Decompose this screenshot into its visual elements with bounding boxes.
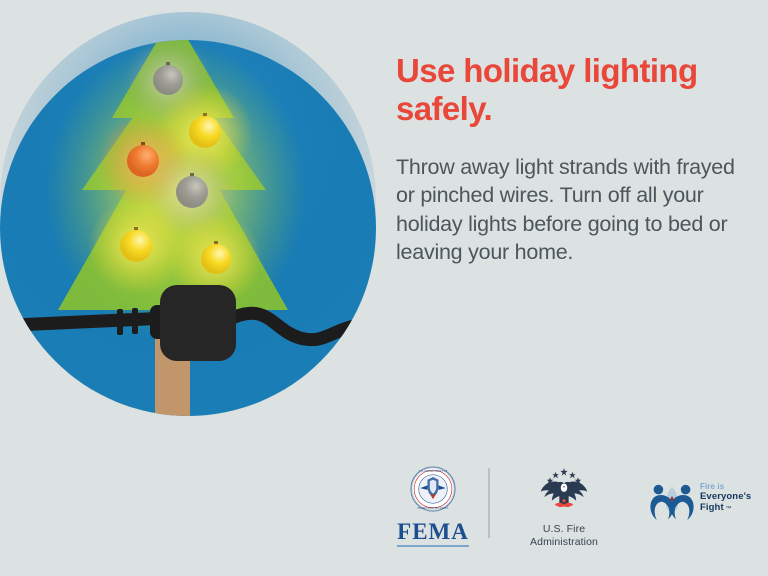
fief-wordmark: Fire is Everyone's Fight ™: [700, 483, 751, 513]
logo-divider: [488, 468, 490, 538]
fire-is-everyones-fight-logo: Fire is Everyone's Fight ™: [648, 480, 760, 527]
fief-trademark: ™: [724, 506, 732, 512]
usfa-line-2: Administration: [504, 536, 624, 549]
headline-line-2: safely.: [396, 90, 492, 127]
poster-canvas: Use holiday lighting safely. Throw away …: [0, 0, 768, 576]
usfa-logo: U.S. Fire Administration: [504, 466, 624, 550]
fief-line-3: Fight: [700, 502, 724, 513]
fema-wordmark: FEMA: [397, 517, 469, 547]
usfa-wordmark: U.S. Fire Administration: [504, 521, 624, 550]
cord-ridge-2: [132, 308, 138, 334]
svg-text:HOMELAND SECURITY: HOMELAND SECURITY: [418, 506, 449, 510]
body-copy: Throw away light strands with frayed or …: [396, 129, 736, 267]
fire-is-everyones-fight-figures-icon: [648, 480, 696, 522]
holiday-lighting-illustration: [0, 0, 380, 460]
message-column: Use holiday lighting safely. Throw away …: [396, 52, 736, 267]
fema-logo: U.S. DEPARTMENT OF HOMELAND SECURITY FEM…: [390, 466, 476, 547]
usfa-eagle-icon: [536, 466, 592, 516]
frayed-cord-left: [14, 318, 168, 325]
dhs-seal-icon: U.S. DEPARTMENT OF HOMELAND SECURITY: [410, 466, 456, 512]
usfa-line-1: U.S. Fire: [504, 523, 624, 536]
headline-line-1: Use holiday lighting: [396, 52, 698, 89]
svg-text:U.S. DEPARTMENT OF: U.S. DEPARTMENT OF: [419, 469, 448, 473]
cord-ridge-1: [117, 309, 123, 335]
agency-logo-bar: U.S. DEPARTMENT OF HOMELAND SECURITY FEM…: [386, 462, 754, 562]
page-title: Use holiday lighting safely.: [396, 52, 736, 129]
electrical-plug-body: [150, 285, 236, 361]
